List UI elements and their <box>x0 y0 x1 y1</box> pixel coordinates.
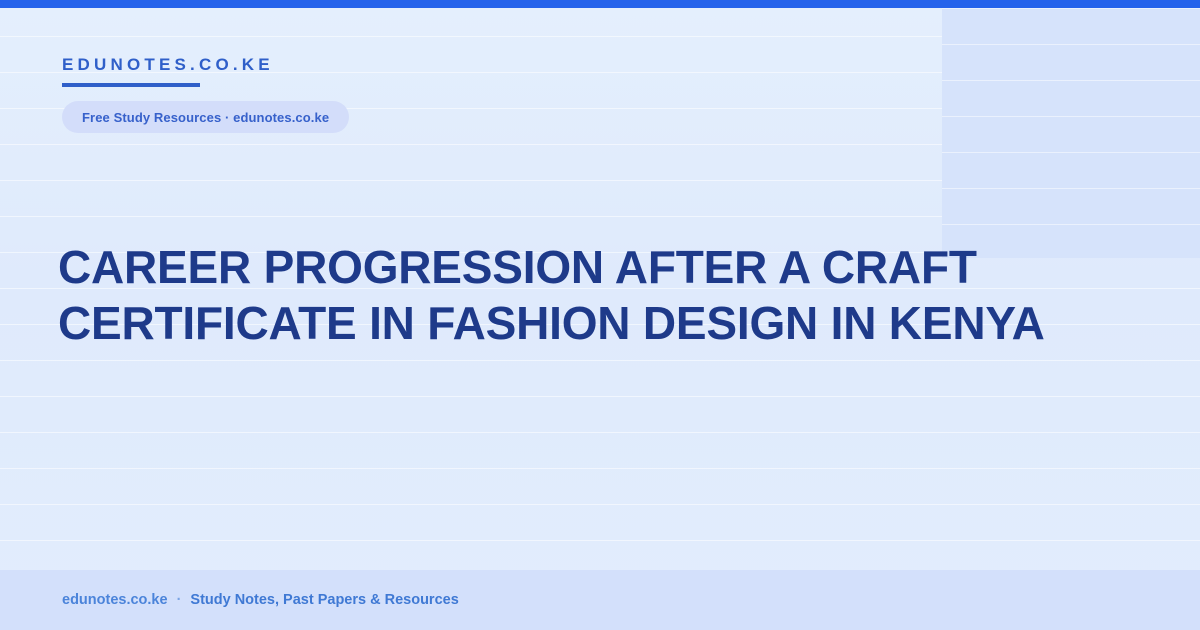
status-badge-label: Free Study Resources · edunotes.co.ke <box>82 110 329 125</box>
brand-wordmark: EDUNOTES.CO.KE <box>62 56 274 73</box>
decorative-panel-lines <box>942 8 1200 258</box>
footer-site-name: edunotes.co.ke <box>62 592 168 608</box>
footer-bar: edunotes.co.ke · Study Notes, Past Paper… <box>0 570 1200 630</box>
top-accent-bar <box>0 0 1200 8</box>
brand-underline <box>62 83 200 87</box>
footer-separator: · <box>177 592 182 608</box>
footer-tagline: Study Notes, Past Papers & Resources <box>190 592 458 608</box>
share-card: EDUNOTES.CO.KE Free Study Resources · ed… <box>0 0 1200 630</box>
page-title: Career Progression After a Craft Certifi… <box>58 239 1058 351</box>
footer-content: edunotes.co.ke · Study Notes, Past Paper… <box>0 592 459 608</box>
status-badge: Free Study Resources · edunotes.co.ke <box>62 101 349 133</box>
brand-block: EDUNOTES.CO.KE <box>62 56 274 87</box>
decorative-panel <box>942 8 1200 258</box>
